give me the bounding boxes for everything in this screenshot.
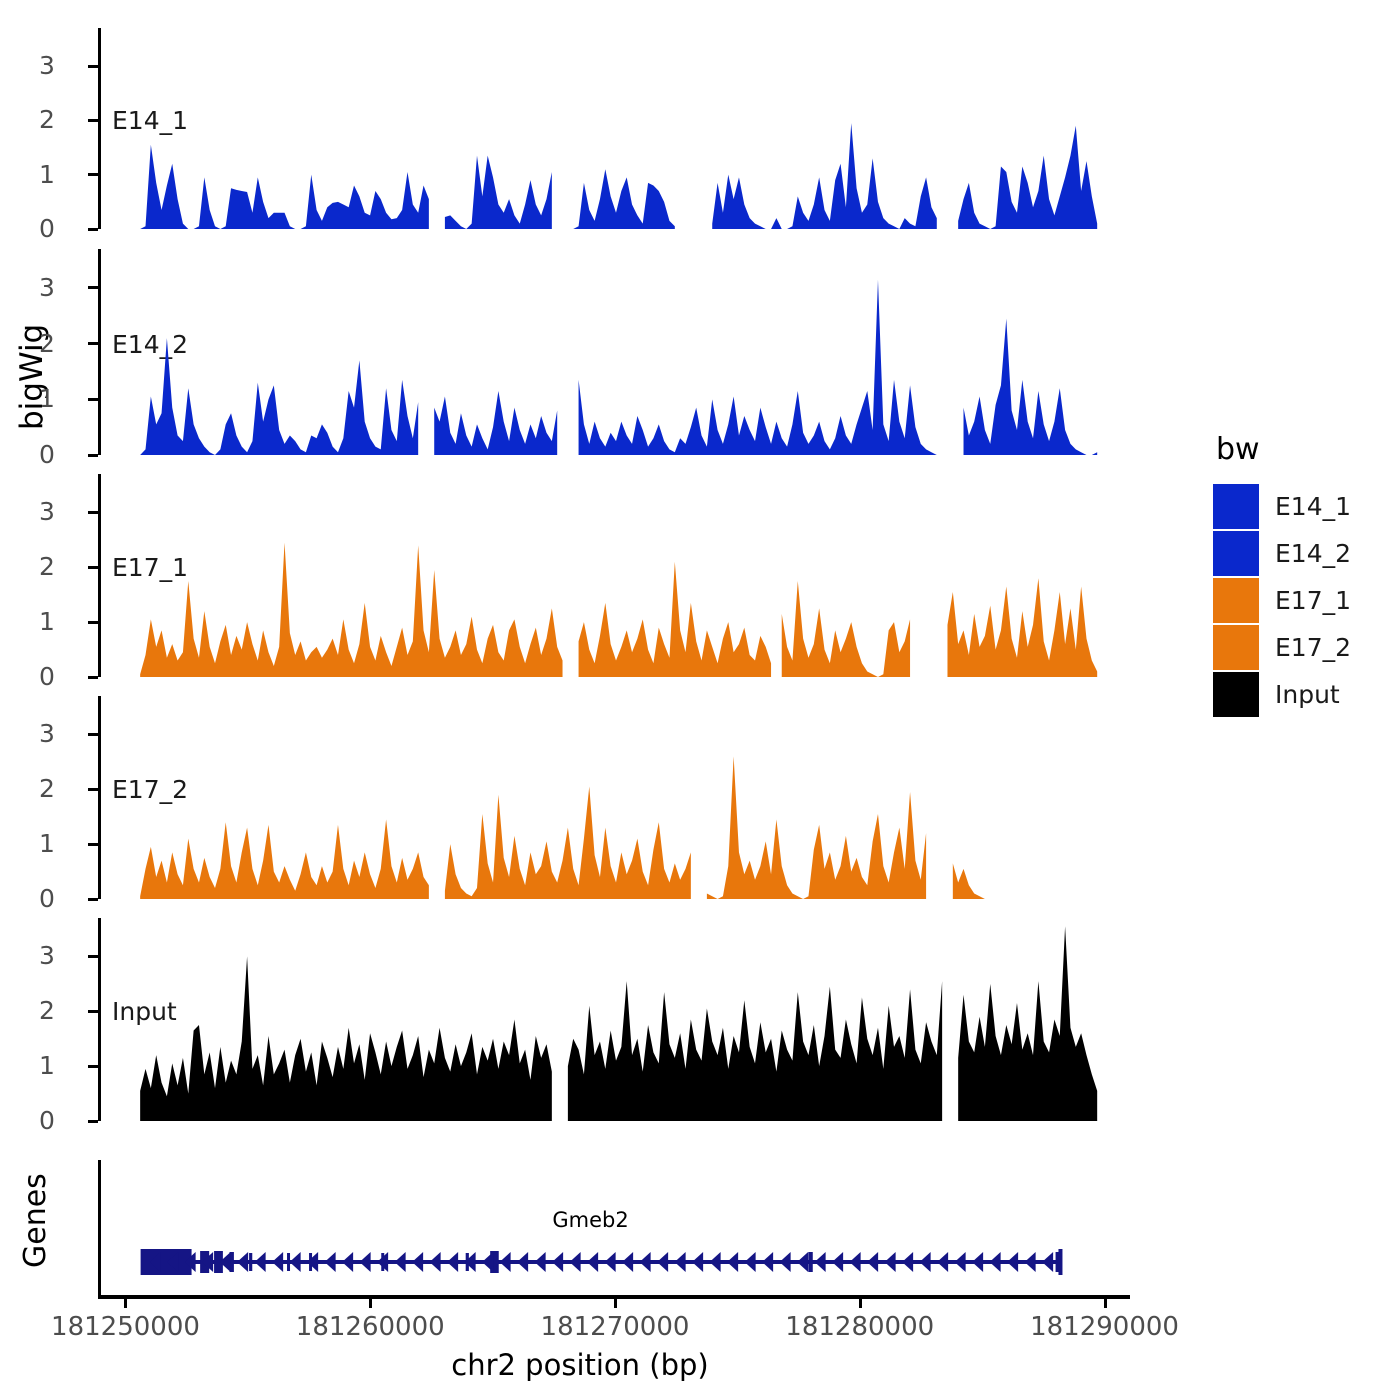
strand-arrow [815, 1252, 826, 1272]
strand-arrow [780, 1252, 791, 1272]
x-tick-label-4: 181290000 [1030, 1312, 1179, 1342]
signal-area-e17_1 [98, 474, 1176, 677]
strand-arrow [482, 1252, 493, 1272]
legend-item-e14_1[interactable]: E14_1 [1213, 483, 1393, 530]
panel-e17_2: 0123E17_2 [98, 696, 1176, 899]
signal-segment-3 [712, 123, 937, 229]
signal-area-input [98, 918, 1176, 1121]
strand-arrow [955, 1252, 966, 1272]
strand-arrow [920, 1252, 931, 1272]
strand-arrow [937, 1252, 948, 1272]
strand-arrow [1007, 1252, 1018, 1272]
y-tick-label-2-2: 2 [39, 552, 55, 581]
strand-arrow [342, 1252, 353, 1272]
strand-arrow [902, 1252, 913, 1272]
strand-arrow [587, 1252, 598, 1272]
panel-input: 0123Input [98, 918, 1176, 1121]
strand-arrow [727, 1252, 738, 1272]
strand-arrow [500, 1252, 511, 1272]
signal-segment-4 [958, 126, 1097, 229]
legend-title: bw [1216, 432, 1393, 467]
y-tick-4-0 [88, 1120, 98, 1123]
y-tick-label-3-3: 3 [39, 719, 55, 748]
signal-segment-0 [140, 543, 562, 677]
signal-segment-0 [140, 956, 552, 1121]
strand-arrow [272, 1252, 283, 1272]
y-tick-label-4-1: 1 [39, 1051, 55, 1080]
signal-segment-2 [782, 581, 910, 677]
legend-swatch-e17_1 [1213, 578, 1259, 623]
strand-arrow [360, 1252, 371, 1272]
legend-item-e17_1[interactable]: E17_1 [1213, 577, 1393, 624]
x-tick-1 [369, 1295, 372, 1308]
y-tick-label-2-1: 1 [39, 607, 55, 636]
signal-segment-2 [707, 756, 926, 899]
gene-exon-11 [1056, 1252, 1061, 1272]
strand-arrow [290, 1252, 301, 1272]
strand-arrow [675, 1252, 686, 1272]
strand-arrow [395, 1252, 406, 1272]
gene-exon-4 [249, 1253, 252, 1271]
strand-arrow [605, 1252, 616, 1272]
strand-arrow [430, 1252, 441, 1272]
legend-swatch-e14_2 [1213, 531, 1259, 576]
strand-arrow [850, 1252, 861, 1272]
signal-area-e17_2 [98, 696, 1176, 899]
y-tick-1-2 [88, 342, 98, 345]
gene-exon-10 [808, 1252, 812, 1272]
x-tick-label-2: 181270000 [541, 1312, 690, 1342]
x-tick-label-0: 181250000 [51, 1312, 200, 1342]
y-tick-2-3 [88, 511, 98, 514]
x-tick-label-1: 181260000 [296, 1312, 445, 1342]
strand-arrow [325, 1252, 336, 1272]
strand-arrow [745, 1252, 756, 1272]
signal-segment-0 [140, 338, 418, 455]
strand-arrow [1025, 1252, 1036, 1272]
strand-arrow [692, 1252, 703, 1272]
strand-arrow [710, 1252, 721, 1272]
panel-e14_1: 0123E14_1 [98, 28, 1176, 229]
x-axis-title: chr2 position (bp) [0, 1348, 1160, 1382]
panel-e17_1: 0123E17_1 [98, 474, 1176, 677]
y-tick-1-1 [88, 398, 98, 401]
y-tick-label-1-3: 3 [39, 273, 55, 302]
y-tick-4-1 [88, 1065, 98, 1068]
x-tick-2 [614, 1295, 617, 1308]
y-tick-0-3 [88, 65, 98, 68]
x-tick-0 [124, 1295, 127, 1308]
signal-segment-2 [579, 280, 937, 455]
y-tick-2-0 [88, 676, 98, 679]
y-tick-label-3-1: 1 [39, 829, 55, 858]
strand-arrow [885, 1252, 896, 1272]
y-tick-label-0-1: 1 [39, 160, 55, 189]
strand-arrow [990, 1252, 1001, 1272]
legend-swatch-e14_1 [1213, 484, 1259, 529]
x-tick-4 [1104, 1295, 1107, 1308]
signal-segment-0 [140, 819, 429, 899]
strand-arrow [412, 1252, 423, 1272]
panel-e14_2: 0123E14_2 [98, 249, 1176, 455]
signal-segment-3 [953, 863, 1097, 899]
legend-label-e17_2: E17_2 [1275, 633, 1351, 662]
signal-segment-1 [445, 787, 691, 899]
strand-arrow [535, 1252, 546, 1272]
signal-segment-3 [964, 319, 1098, 455]
strand-arrow [552, 1252, 563, 1272]
signal-segment-1 [445, 156, 552, 229]
strand-arrow [447, 1252, 458, 1272]
y-tick-label-4-0: 0 [39, 1106, 55, 1135]
y-tick-label-1-1: 1 [39, 384, 55, 413]
y-tick-1-3 [88, 286, 98, 289]
y-tick-0-2 [88, 119, 98, 122]
y-tick-4-3 [88, 955, 98, 958]
strand-arrow [640, 1252, 651, 1272]
y-tick-label-3-2: 2 [39, 774, 55, 803]
y-tick-label-2-3: 3 [39, 497, 55, 526]
y-tick-4-2 [88, 1010, 98, 1013]
signal-segment-0 [140, 145, 429, 229]
strand-arrow [255, 1252, 266, 1272]
genes-track-svg [0, 1160, 1400, 1310]
y-tick-3-1 [88, 843, 98, 846]
gene-exon-5 [287, 1253, 290, 1271]
signal-area-e14_1 [98, 28, 1176, 229]
legend-items: E14_1E14_2E17_1E17_2Input [1213, 483, 1393, 718]
signal-area-e14_2 [98, 249, 1176, 455]
legend-item-e17_2[interactable]: E17_2 [1213, 624, 1393, 671]
y-tick-label-4-2: 2 [39, 996, 55, 1025]
strand-arrow [570, 1252, 581, 1272]
legend-label-input: Input [1275, 680, 1340, 709]
y-tick-3-2 [88, 788, 98, 791]
genome-browser-figure: bigWig Genes 0123E14_10123E14_20123E17_1… [0, 0, 1400, 1400]
signal-segment-3 [947, 578, 1097, 677]
y-tick-label-0-2: 2 [39, 105, 55, 134]
legend: bw E14_1E14_2E17_1E17_2Input [1213, 432, 1393, 718]
y-tick-label-0-0: 0 [39, 214, 55, 243]
strand-arrow [307, 1252, 318, 1272]
y-tick-3-0 [88, 898, 98, 901]
strand-arrow [797, 1252, 808, 1272]
y-tick-0-1 [88, 173, 98, 176]
legend-label-e17_1: E17_1 [1275, 586, 1351, 615]
strand-arrow [1042, 1252, 1053, 1272]
legend-swatch-e17_2 [1213, 625, 1259, 670]
strand-arrow [237, 1252, 248, 1272]
y-tick-label-4-3: 3 [39, 941, 55, 970]
strand-arrow [972, 1252, 983, 1272]
legend-item-e14_2[interactable]: E14_2 [1213, 530, 1393, 577]
y-tick-0-0 [88, 228, 98, 231]
legend-label-e14_1: E14_1 [1275, 492, 1351, 521]
signal-segment-2 [958, 926, 1097, 1121]
y-tick-label-1-2: 2 [39, 329, 55, 358]
signal-segment-2 [573, 169, 675, 229]
legend-swatch-input [1213, 672, 1259, 717]
signal-segment-1 [434, 391, 557, 455]
y-tick-label-0-3: 3 [39, 51, 55, 80]
x-tick-3 [859, 1295, 862, 1308]
legend-item-input[interactable]: Input [1213, 671, 1393, 718]
strand-arrow [762, 1252, 773, 1272]
y-tick-label-1-0: 0 [39, 440, 55, 469]
strand-arrow [517, 1252, 528, 1272]
x-tick-label-3: 181280000 [785, 1312, 934, 1342]
strand-arrow [832, 1252, 843, 1272]
legend-label-e14_2: E14_2 [1275, 539, 1351, 568]
y-tick-3-3 [88, 733, 98, 736]
signal-segment-1 [568, 981, 942, 1121]
strand-arrow [657, 1252, 668, 1272]
y-tick-2-2 [88, 566, 98, 569]
strand-arrow [622, 1252, 633, 1272]
strand-arrow [867, 1252, 878, 1272]
y-tick-1-0 [88, 454, 98, 457]
y-tick-label-3-0: 0 [39, 884, 55, 913]
y-tick-2-1 [88, 621, 98, 624]
signal-segment-1 [579, 562, 771, 677]
y-tick-label-2-0: 0 [39, 662, 55, 691]
